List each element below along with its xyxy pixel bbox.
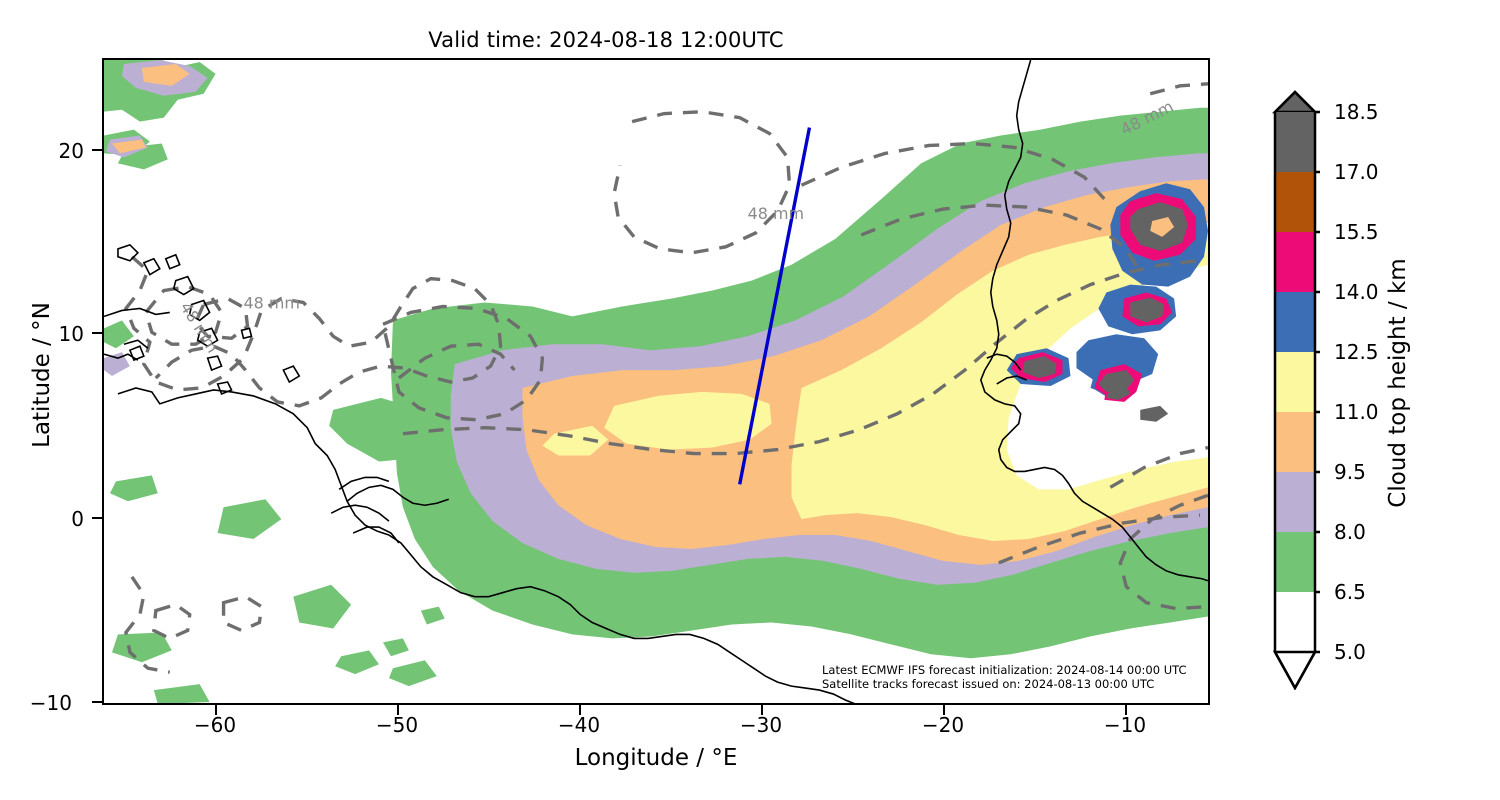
swatch-18_5 — [1275, 112, 1315, 172]
figure-root: Valid time: 2024-08-18 12:00UTC Latitude… — [0, 0, 1500, 800]
cbar-tick-9_5: 9.5 — [1334, 460, 1366, 484]
annotation-line-1: Latest ECMWF IFS forecast initialization… — [822, 663, 1187, 677]
contour-label-48mm-left-a: 48 mm — [243, 293, 299, 312]
swatch-9_5 — [1275, 472, 1315, 532]
colorbar-title-wrap: Cloud top height / km — [1378, 90, 1418, 690]
y-axis-label: Latitude / °N — [29, 225, 55, 525]
x-tick-minus50: −50 — [357, 713, 437, 737]
swatch-12_5 — [1275, 352, 1315, 412]
y-tick-10: 10 — [22, 322, 84, 346]
cbar-tick-11_0: 11.0 — [1334, 400, 1379, 424]
swatch-14_0 — [1275, 292, 1315, 352]
contour-label-48mm-center: 48 mm — [748, 204, 804, 223]
swatch-6_5 — [1275, 592, 1315, 652]
cbar-tick-8_0: 8.0 — [1334, 520, 1366, 544]
cbar-tick-15_5: 15.5 — [1334, 220, 1379, 244]
cbar-tick-12_5: 12.5 — [1334, 340, 1379, 364]
y-tick-20: 20 — [22, 139, 84, 163]
swatch-15_5 — [1275, 232, 1315, 292]
y-tick-minus10: −10 — [10, 691, 72, 715]
forecast-annotation: Latest ECMWF IFS forecast initialization… — [822, 663, 1187, 691]
cbar-tick-18_5: 18.5 — [1334, 100, 1379, 124]
colorbar-swatches — [1270, 90, 1320, 690]
colorbar-over-arrow — [1275, 92, 1315, 112]
x-axis-label: Longitude / °E — [102, 745, 1210, 771]
y-tick-0: 0 — [22, 507, 84, 531]
cbar-tick-14_0: 14.0 — [1334, 280, 1379, 304]
swatch-11_0 — [1275, 412, 1315, 472]
cbar-tick-6_5: 6.5 — [1334, 580, 1366, 604]
x-tick-minus20: −20 — [903, 713, 983, 737]
cloud-top-height-field: 48 mm 48 mm 48 mm 48 mm — [104, 60, 1208, 703]
colorbar-title: Cloud top height / km — [1385, 103, 1411, 663]
annotation-line-2: Satellite tracks forecast issued on: 202… — [822, 677, 1187, 691]
cbar-tick-5_0: 5.0 — [1334, 640, 1366, 664]
x-tick-minus30: −30 — [721, 713, 801, 737]
map-plot-area[interactable]: 48 mm 48 mm 48 mm 48 mm — [102, 58, 1210, 705]
swatch-17_0 — [1275, 172, 1315, 232]
x-tick-minus60: −60 — [175, 713, 255, 737]
swatch-8_0 — [1275, 532, 1315, 592]
cbar-tick-17_0: 17.0 — [1334, 160, 1379, 184]
x-tick-minus40: −40 — [539, 713, 619, 737]
page-title: Valid time: 2024-08-18 12:00UTC — [0, 28, 1212, 52]
colorbar[interactable]: 18.5 17.0 15.5 14.0 12.5 11.0 9.5 8.0 6.… — [1270, 90, 1320, 690]
x-tick-minus10: −10 — [1085, 713, 1165, 737]
colorbar-under-arrow — [1275, 652, 1315, 688]
